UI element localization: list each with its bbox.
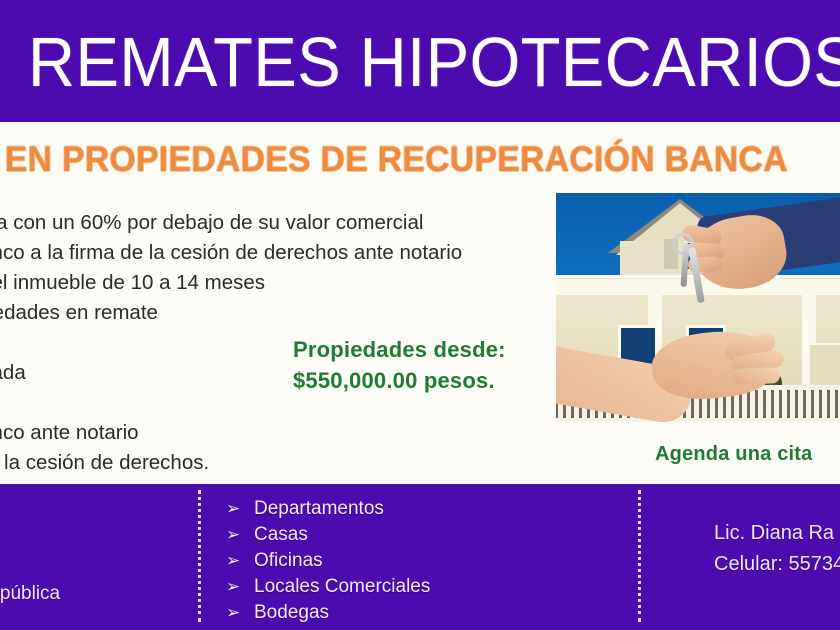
property-type-label: Casas <box>254 522 308 548</box>
receiver-finger <box>732 367 781 385</box>
property-type-label: Bodegas <box>254 600 329 626</box>
benefit-line: o al banco a la firma de la cesión de de… <box>0 238 530 268</box>
house-keys-photo <box>556 193 840 422</box>
arrow-bullet-icon: ➢ <box>226 548 254 574</box>
benefit-line: es hasta con un 60% por debajo de su val… <box>0 208 530 238</box>
benefit-line: terial del inmueble de 10 a 14 meses <box>0 268 530 298</box>
property-type-label: Locales Comerciales <box>254 574 430 600</box>
footer-contact-column: Lic. Diana Ra Celular: 55734 <box>714 518 840 580</box>
property-type-label: Departamentos <box>254 496 384 522</box>
page-title: REMATES HIPOTECARIOS <box>28 14 791 110</box>
price-callout: Propiedades desde: $550,000.00 pesos. <box>293 334 506 396</box>
footer-locations-column: México México te de la República <box>0 496 198 608</box>
price-callout-amount: $550,000.00 pesos. <box>293 365 506 396</box>
process-line: o al banco ante notario <box>0 418 530 448</box>
price-callout-label: Propiedades desde: <box>293 334 506 365</box>
footer-property-types-column: ➢ Departamentos ➢ Casas ➢ Oficinas ➢ Loc… <box>226 496 626 626</box>
list-item: ➢ Bodegas <box>226 600 626 626</box>
flyer-poster: REMATES HIPOTECARIOS ERTE EN PROPIEDADES… <box>0 0 840 630</box>
list-item: ➢ Casas <box>226 522 626 548</box>
list-item: ➢ Departamentos <box>226 496 626 522</box>
footer-divider <box>638 490 641 622</box>
location-item: te de la República <box>0 580 198 608</box>
process-line: irma de la cesión de derechos. <box>0 448 530 478</box>
contact-phone[interactable]: Celular: 55734 <box>714 549 840 580</box>
arrow-bullet-icon: ➢ <box>226 574 254 600</box>
benefit-line: 0 propiedades en remate <box>0 298 530 328</box>
schedule-appointment-cta[interactable]: Agenda una cita <box>655 443 812 466</box>
list-item: ➢ Oficinas <box>226 548 626 574</box>
property-type-label: Oficinas <box>254 548 323 574</box>
arrow-bullet-icon: ➢ <box>226 522 254 548</box>
arrow-bullet-icon: ➢ <box>226 600 254 626</box>
list-item: ➢ Locales Comerciales <box>226 574 626 600</box>
footer-divider <box>198 490 201 622</box>
spacer <box>0 552 198 580</box>
location-item: México <box>0 496 198 524</box>
arrow-bullet-icon: ➢ <box>226 496 254 522</box>
location-item: México <box>0 524 198 552</box>
contact-name: Lic. Diana Ra <box>714 518 840 549</box>
subtitle-banner: ERTE EN PROPIEDADES DE RECUPERACIÓN BANC… <box>0 140 840 180</box>
